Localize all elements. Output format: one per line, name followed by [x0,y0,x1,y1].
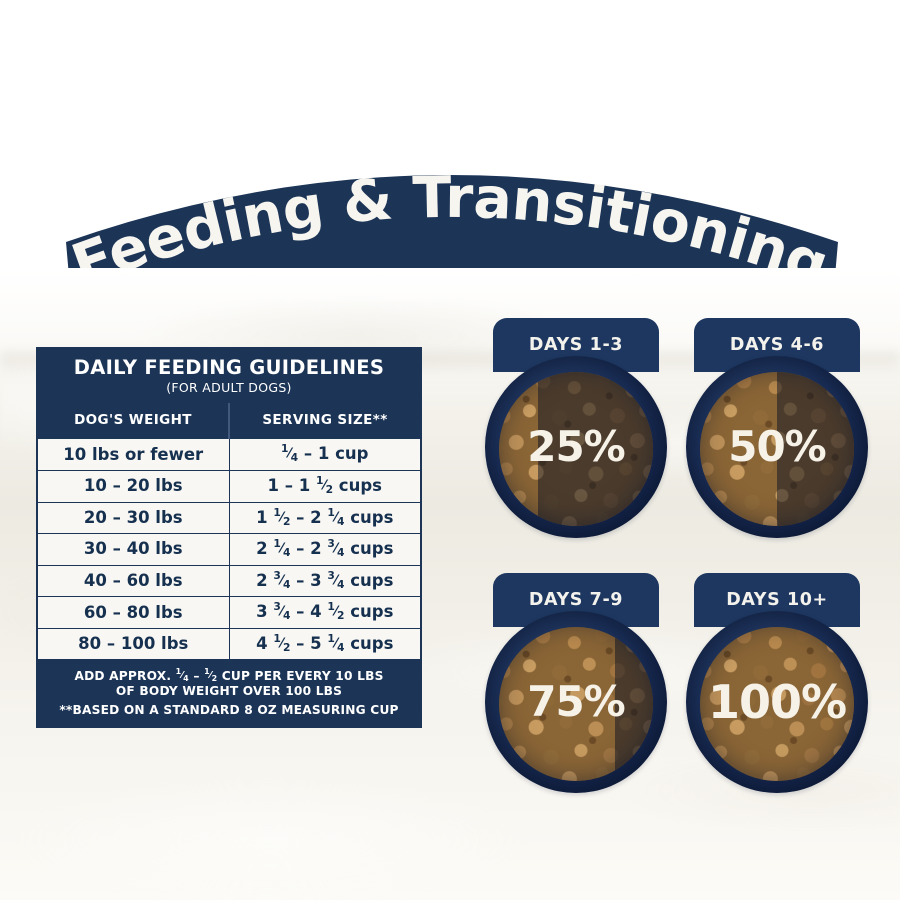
step-day-label: DAYS 1-3 [529,335,623,355]
table-row: 30 – 40 lbs2 1⁄4 – 2 3⁄4 cups [38,534,420,566]
kibble-area [499,627,653,781]
table-row: 40 – 60 lbs2 3⁄4 – 3 3⁄4 cups [38,565,420,597]
column-header-weight: DOG'S WEIGHT [38,403,229,438]
step-day-label: DAYS 4-6 [730,335,824,355]
guidelines-grid: DOG'S WEIGHT SERVING SIZE** 10 lbs or fe… [38,403,420,659]
transition-step-50: DAYS 4-650% [694,318,860,372]
unfilled-portion-overlay [615,627,654,781]
table-footnote: ADD APPROX. 1⁄4 – 1⁄2 CUP PER EVERY 10 L… [38,659,420,725]
cell-dog-weight: 10 lbs or fewer [38,438,229,470]
cell-serving-size: 1 – 1 1⁄2 cups [229,471,420,503]
page-title-banner: Feeding & Transitioning [0,96,900,268]
cell-dog-weight: 10 – 20 lbs [38,471,229,503]
cell-dog-weight: 20 – 30 lbs [38,502,229,534]
cell-dog-weight: 30 – 40 lbs [38,534,229,566]
transition-step-75: DAYS 7-975% [493,573,659,627]
table-title: DAILY FEEDING GUIDELINES [44,358,414,378]
unfilled-portion-overlay [538,372,654,526]
cell-dog-weight: 60 – 80 lbs [38,597,229,629]
kibble-area [700,372,854,526]
cell-serving-size: 1⁄4 – 1 cup [229,438,420,470]
transition-step-25: DAYS 1-325% [493,318,659,372]
table-row: 10 – 20 lbs1 – 1 1⁄2 cups [38,471,420,503]
kibble-area [700,627,854,781]
table-column-headers: DOG'S WEIGHT SERVING SIZE** [38,403,420,438]
daily-feeding-guidelines-table: DAILY FEEDING GUIDELINES (FOR ADULT DOGS… [36,347,422,728]
cell-serving-size: 3 3⁄4 – 4 1⁄2 cups [229,597,420,629]
table-row: 60 – 80 lbs3 3⁄4 – 4 1⁄2 cups [38,597,420,629]
kibble-texture [700,627,854,781]
footnote-line-1: ADD APPROX. 1⁄4 – 1⁄2 CUP PER EVERY 10 L… [44,668,414,683]
cell-serving-size: 4 1⁄2 – 5 1⁄4 cups [229,628,420,659]
unfilled-portion-overlay [777,372,854,526]
kibble-area [499,372,653,526]
food-bowl-icon: 50% [686,356,868,538]
cell-serving-size: 2 1⁄4 – 2 3⁄4 cups [229,534,420,566]
step-day-label: DAYS 10+ [726,590,828,610]
footnote-line-2: OF BODY WEIGHT OVER 100 LBS [44,684,414,699]
cell-dog-weight: 40 – 60 lbs [38,565,229,597]
column-header-serving: SERVING SIZE** [229,403,420,438]
table-row: 10 lbs or fewer1⁄4 – 1 cup [38,438,420,470]
transition-step-100: DAYS 10+100% [694,573,860,627]
table-row: 20 – 30 lbs1 1⁄2 – 2 1⁄4 cups [38,502,420,534]
step-day-label: DAYS 7-9 [529,590,623,610]
cell-serving-size: 2 3⁄4 – 3 3⁄4 cups [229,565,420,597]
table-row: 80 – 100 lbs4 1⁄2 – 5 1⁄4 cups [38,628,420,659]
footnote-line-3: **BASED ON A STANDARD 8 OZ MEASURING CUP [44,703,414,718]
table-subtitle: (FOR ADULT DOGS) [44,380,414,395]
food-bowl-icon: 100% [686,611,868,793]
food-bowl-icon: 25% [485,356,667,538]
table-header: DAILY FEEDING GUIDELINES (FOR ADULT DOGS… [38,349,420,403]
food-bowl-icon: 75% [485,611,667,793]
cell-dog-weight: 80 – 100 lbs [38,628,229,659]
cell-serving-size: 1 1⁄2 – 2 1⁄4 cups [229,502,420,534]
